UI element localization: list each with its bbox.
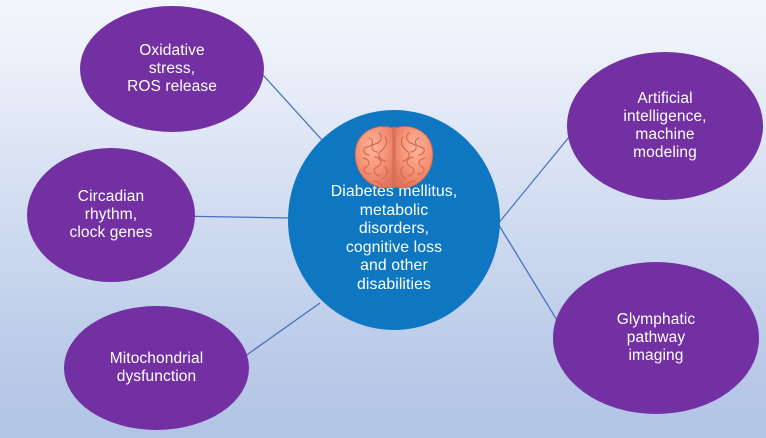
node-oxidative-stress[interactable]: Oxidative stress, ROS release [80,6,264,132]
node-oxidative-stress-label: Oxidative stress, ROS release [119,42,225,96]
center-node-label: Diabetes mellitus, metabolic disorders, … [323,183,465,294]
node-mitochondrial-dysfunction-label: Mitochondrial dysfunction [102,350,211,386]
node-circadian-rhythm[interactable]: Circadian rhythm, clock genes [27,148,195,282]
node-circadian-rhythm-label: Circadian rhythm, clock genes [62,188,161,242]
node-glymphatic-pathway-label: Glymphatic pathway imaging [609,311,704,365]
node-glymphatic-pathway[interactable]: Glymphatic pathway imaging [553,262,759,414]
edge-center-glymphatic [497,222,563,330]
edge-center-ai [497,131,574,225]
brain-icon [351,124,437,190]
center-node-diabetes[interactable]: Diabetes mellitus, metabolic disorders, … [288,110,500,330]
concept-map-figure: Diabetes mellitus, metabolic disorders, … [0,0,766,438]
node-artificial-intelligence-label: Artificial intelligence, machine modelin… [615,90,714,163]
node-mitochondrial-dysfunction[interactable]: Mitochondrial dysfunction [64,306,249,430]
node-artificial-intelligence[interactable]: Artificial intelligence, machine modelin… [567,52,763,200]
